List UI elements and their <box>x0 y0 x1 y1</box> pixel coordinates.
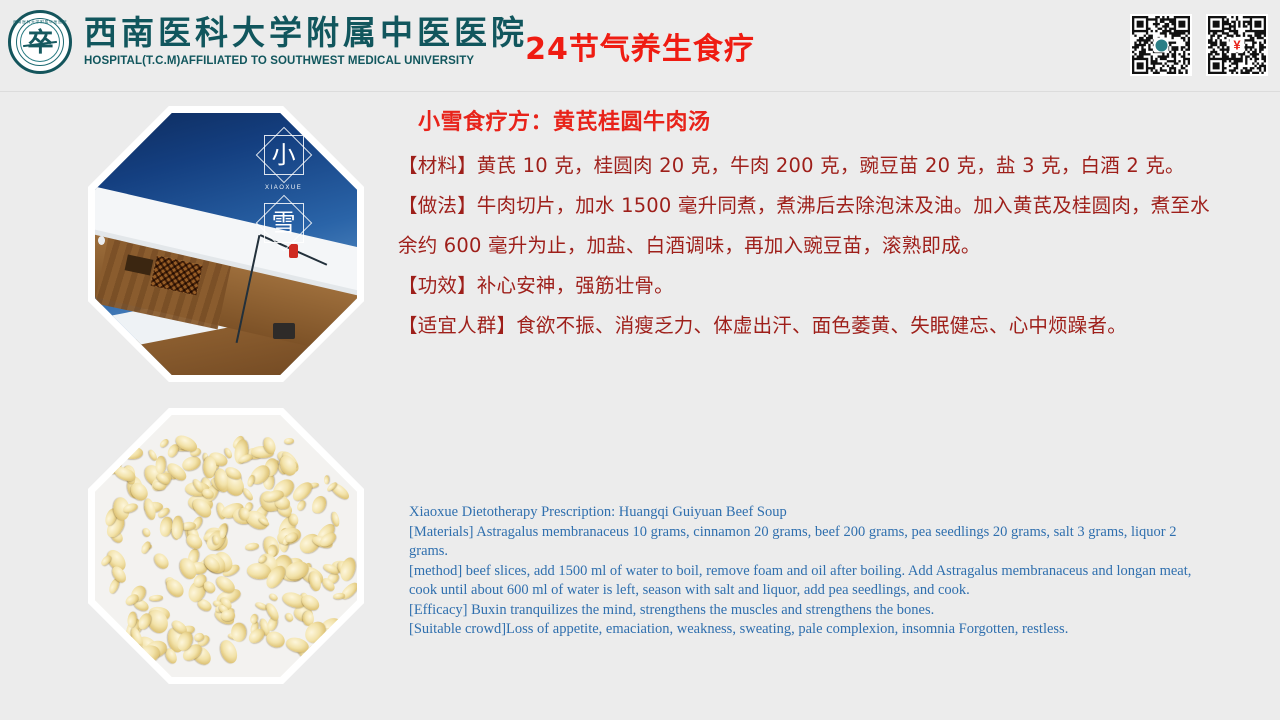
snow-photo: 小 XIAOXUE 雪 <box>95 113 357 375</box>
qr-code-wechat[interactable] <box>1130 14 1192 76</box>
seal-char-bottom: 雪 <box>258 197 310 249</box>
recipe-suitable-crowd: 【适宜人群】食欲不振、消瘦乏力、体虚出汗、面色萎黄、失眠健忘、心中烦躁者。 <box>398 306 1226 346</box>
qr-code-group: ¥ <box>1130 14 1268 76</box>
qr-code-payment[interactable]: ¥ <box>1206 14 1268 76</box>
translation-line-materials: [Materials] Astragalus membranaceus 10 g… <box>409 523 1219 562</box>
translation-line-crowd: [Suitable crowd]Loss of appetite, emacia… <box>409 620 1219 640</box>
seal-pinyin: XIAOXUE <box>231 185 336 191</box>
translation-line-efficacy: [Efficacy] Buxin tranquilizes the mind, … <box>409 601 1219 621</box>
translation-line-method: [method] beef slices, add 1500 ml of wat… <box>409 562 1219 601</box>
recipe-content: 小雪食疗方：黄芪桂圆牛肉汤 【材料】黄芪 10 克，桂圆肉 20 克，牛肉 20… <box>398 104 1226 346</box>
qr-center-logo-icon <box>1154 38 1169 53</box>
recipe-method: 【做法】牛肉切片，加水 1500 毫升同煮，煮沸后去除泡沫及油。加入黄芪及桂圆肉… <box>398 186 1226 266</box>
recipe-title: 小雪食疗方：黄芪桂圆牛肉汤 <box>418 104 1226 136</box>
slide-header: 西南医科大学附属中医医院 卒 西南医科大学附属中医医院 HOSPITAL(T.C… <box>0 0 1280 92</box>
recipe-materials: 【材料】黄芪 10 克，桂圆肉 20 克，牛肉 200 克，豌豆苗 20 克，盐… <box>398 146 1226 186</box>
herb-photo <box>95 415 357 677</box>
recipe-efficacy: 【功效】补心安神，强筋壮骨。 <box>398 266 1226 306</box>
qr-center-yen-icon: ¥ <box>1230 38 1245 53</box>
seal-char-top: 小 <box>258 129 310 181</box>
seal-frame-bottom: 雪 <box>258 197 310 249</box>
slide-root: 西南医科大学附属中医医院 卒 西南医科大学附属中医医院 HOSPITAL(T.C… <box>0 0 1280 720</box>
english-translation: Xiaoxue Dietotherapy Prescription: Huang… <box>409 503 1219 640</box>
seal-frame-top: 小 <box>258 129 310 181</box>
header-divider <box>0 91 1280 92</box>
deck-title: 24节气养生食疗 <box>0 24 1280 68</box>
translation-line-title: Xiaoxue Dietotherapy Prescription: Huang… <box>409 503 1219 523</box>
